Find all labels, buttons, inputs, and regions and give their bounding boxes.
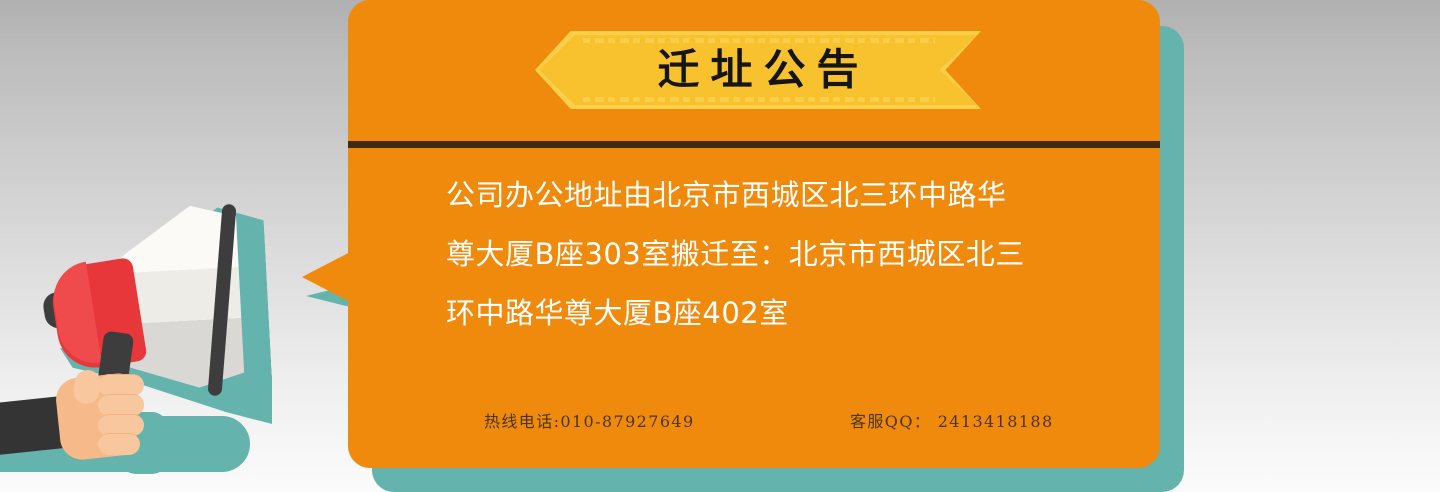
hand-finger — [98, 433, 140, 455]
title-banner: 迁址公告 — [535, 31, 981, 109]
announcement-banner: 迁址公告 公司办公地址由北京市西城区北三环中路华 尊大厦B座303室搬迁至：北京… — [0, 0, 1440, 492]
notice-body-line: 尊大厦B座303室搬迁至：北京市西城区北三 — [446, 225, 1091, 284]
notice-body-line: 公司办公地址由北京市西城区北三环中路华 — [446, 166, 1091, 225]
divider-line — [348, 141, 1160, 148]
hand-finger — [98, 394, 144, 416]
hotline-phone: 热线电话:010-87927649 — [484, 408, 695, 432]
customer-service-qq: 客服QQ： 2413418188 — [850, 408, 1054, 432]
megaphone-illustration — [0, 180, 330, 492]
contact-row: 热线电话:010-87927649 客服QQ： 2413418188 — [348, 408, 1160, 436]
page-title: 迁址公告 — [535, 31, 981, 109]
notice-body: 公司办公地址由北京市西城区北三环中路华 尊大厦B座303室搬迁至：北京市西城区北… — [446, 166, 1091, 343]
notice-body-line: 环中路华尊大厦B座402室 — [446, 284, 1091, 343]
hand-finger — [98, 374, 144, 396]
speech-tail — [302, 250, 354, 304]
